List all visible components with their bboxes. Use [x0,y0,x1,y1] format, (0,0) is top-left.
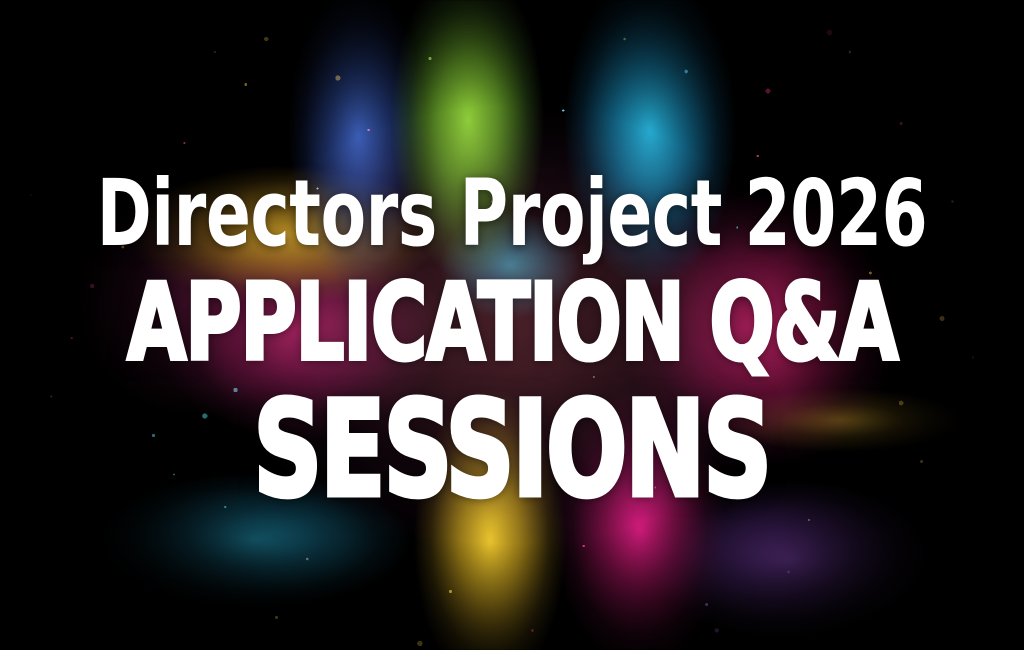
headline-line-subject: APPLICATION Q&A [127,270,897,376]
headline-line-sessions: SESSIONS [254,384,771,516]
headline-line-title: Directors Project 2026 [97,168,927,260]
poster-canvas: Directors Project 2026 APPLICATION Q&A S… [0,0,1024,650]
headline-block: Directors Project 2026 APPLICATION Q&A S… [0,0,1024,650]
